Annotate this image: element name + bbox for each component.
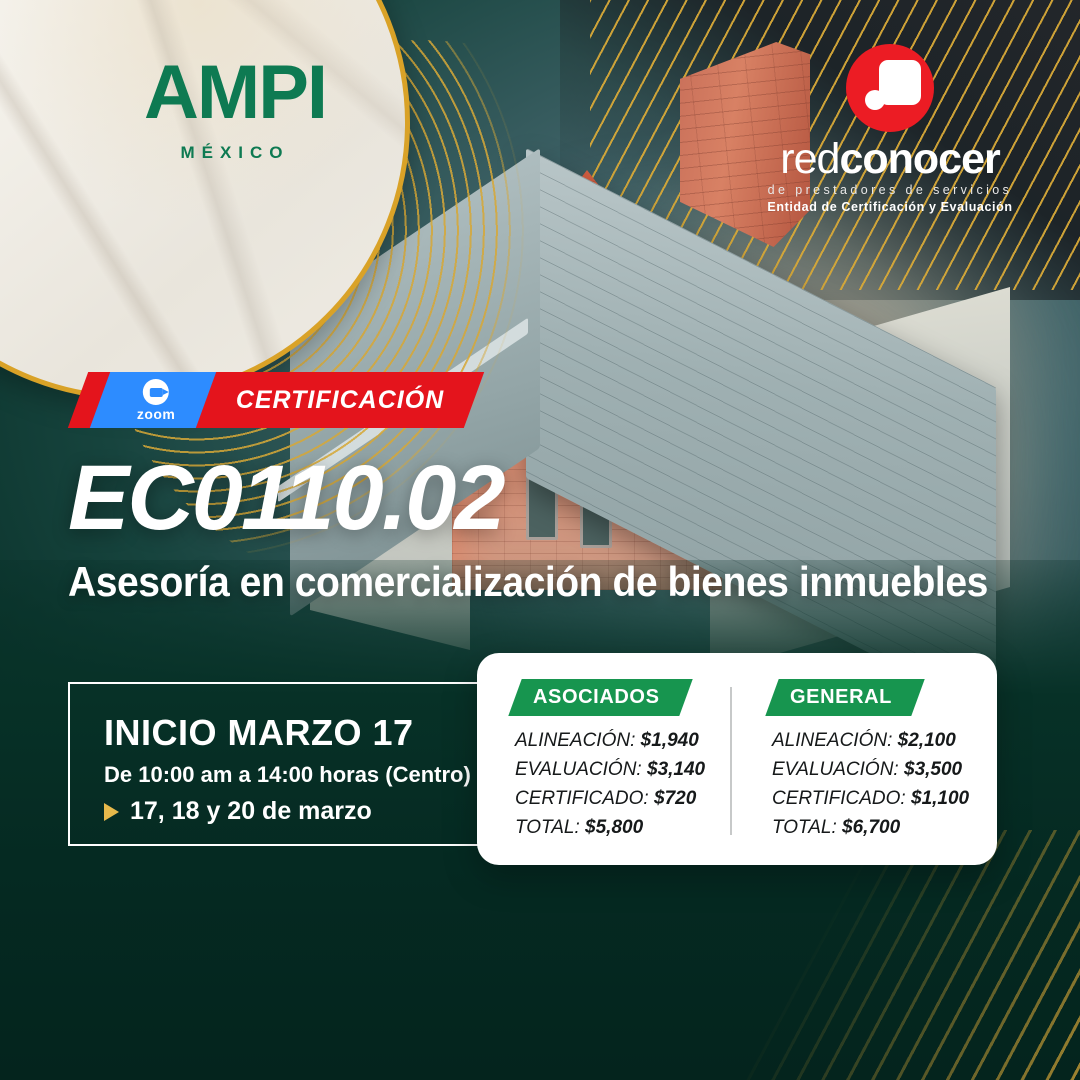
pricing-card: ASOCIADOS ALINEACIÓN: $1,940 EVALUACIÓN:… — [477, 653, 997, 865]
pricing-row-amount: $5,800 — [585, 817, 643, 838]
pricing-row-label: ALINEACIÓN: — [772, 730, 892, 751]
pricing-row: EVALUACIÓN: $3,500 — [772, 759, 997, 781]
pricing-row-amount: $1,100 — [911, 788, 969, 809]
gold-lines-bottomright — [680, 830, 1080, 1080]
column-divider — [730, 687, 732, 835]
rounded-square-shape — [879, 60, 921, 105]
pricing-header-tag: GENERAL — [765, 679, 924, 716]
redconocer-word-conocer: conocer — [839, 135, 999, 183]
pricing-row-amount: $720 — [654, 788, 696, 809]
ampi-country-label: MÉXICO — [85, 143, 385, 163]
pricing-row-amount: $2,100 — [898, 730, 956, 751]
pricing-row-label: TOTAL: — [772, 817, 837, 838]
pricing-list: ALINEACIÓN: $1,940 EVALUACIÓN: $3,140 CE… — [515, 730, 740, 839]
certification-banner: CERTIFICACIÓN — [196, 372, 485, 428]
pricing-header-label: GENERAL — [790, 686, 892, 709]
certification-label: CERTIFICACIÓN — [236, 386, 444, 415]
redconocer-tagline-1: de prestadores de servicios — [740, 183, 1040, 197]
pricing-row-total: TOTAL: $5,800 — [515, 817, 740, 839]
redconocer-tagline-2: Entidad de Certificación y Evaluación — [740, 200, 1040, 214]
pricing-row-label: EVALUACIÓN: — [515, 759, 642, 780]
redconocer-logo: redconocer de prestadores de servicios E… — [740, 44, 1040, 214]
ampi-wordmark: AMPI — [85, 55, 385, 131]
pricing-row-label: EVALUACIÓN: — [772, 759, 899, 780]
pricing-row: EVALUACIÓN: $3,140 — [515, 759, 740, 781]
course-code: EC0110.02 — [68, 452, 504, 544]
dot-shape — [865, 90, 885, 110]
pricing-list: ALINEACIÓN: $2,100 EVALUACIÓN: $3,500 CE… — [772, 730, 997, 839]
ampi-logo: AMPI MÉXICO — [85, 55, 385, 163]
pricing-row-label: CERTIFICADO: — [515, 788, 649, 809]
schedule-dates: 17, 18 y 20 de marzo — [130, 797, 372, 826]
zoom-label: zoom — [137, 406, 176, 422]
pricing-column-general: GENERAL ALINEACIÓN: $2,100 EVALUACIÓN: $… — [740, 653, 997, 865]
modality-badge: zoom CERTIFICACIÓN — [78, 372, 474, 428]
redconocer-word-red: red — [780, 135, 839, 183]
pricing-row-amount: $3,500 — [904, 759, 962, 780]
redconocer-mark-icon — [846, 44, 934, 132]
pricing-row-label: CERTIFICADO: — [772, 788, 906, 809]
pricing-row: ALINEACIÓN: $1,940 — [515, 730, 740, 752]
course-title: Asesoría en comercialización de bienes i… — [68, 558, 988, 606]
pricing-row-label: TOTAL: — [515, 817, 580, 838]
pricing-row: CERTIFICADO: $720 — [515, 788, 740, 810]
promo-flyer: AMPI MÉXICO redconocer de prestadores de… — [0, 0, 1080, 1080]
pricing-row-total: TOTAL: $6,700 — [772, 817, 997, 839]
pricing-row: CERTIFICADO: $1,100 — [772, 788, 997, 810]
pricing-row-amount: $6,700 — [842, 817, 900, 838]
video-camera-icon — [143, 379, 169, 405]
pricing-row: ALINEACIÓN: $2,100 — [772, 730, 997, 752]
triangle-bullet-icon — [104, 803, 119, 821]
redconocer-wordmark: redconocer — [740, 138, 1040, 181]
pricing-header-tag: ASOCIADOS — [508, 679, 692, 716]
pricing-header-label: ASOCIADOS — [533, 686, 660, 709]
pricing-row-label: ALINEACIÓN: — [515, 730, 635, 751]
pricing-column-asociados: ASOCIADOS ALINEACIÓN: $1,940 EVALUACIÓN:… — [477, 653, 740, 865]
pricing-row-amount: $3,140 — [647, 759, 705, 780]
pricing-row-amount: $1,940 — [641, 730, 699, 751]
